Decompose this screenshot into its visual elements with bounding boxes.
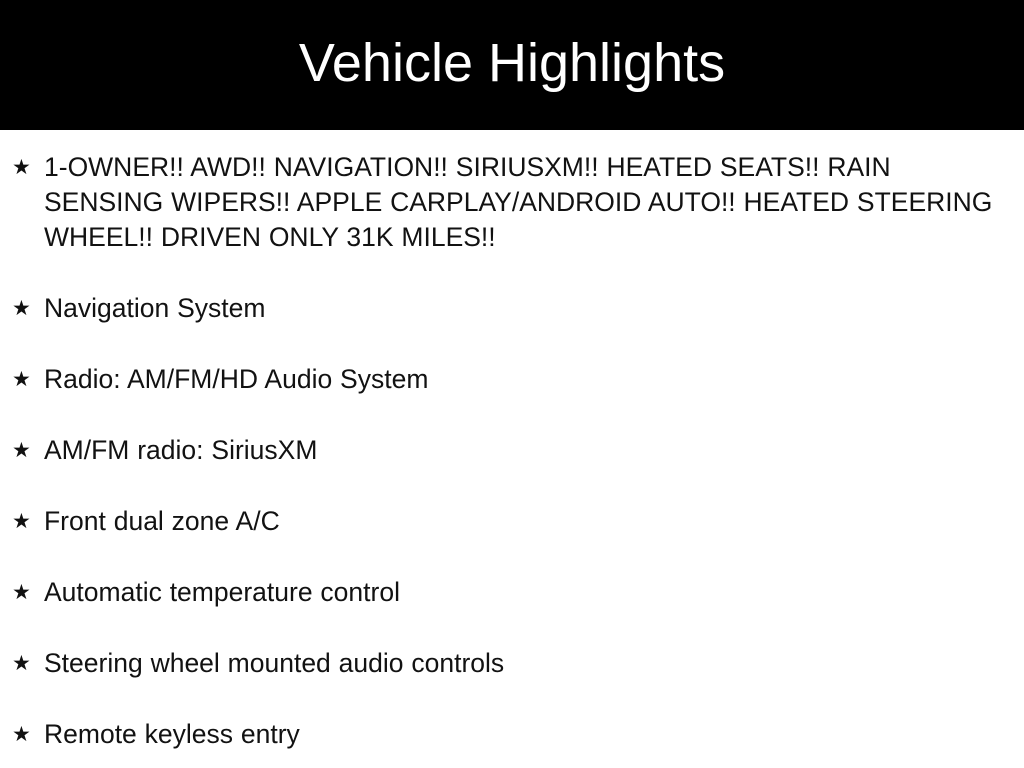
- feature-text: Remote keyless entry: [44, 717, 1006, 752]
- star-bullet-icon: ★: [12, 291, 44, 326]
- star-bullet-icon: ★: [12, 150, 44, 185]
- feature-text: Radio: AM/FM/HD Audio System: [44, 362, 1006, 397]
- vehicle-features-list: ★ 1-OWNER!! AWD!! NAVIGATION!! SIRIUSXM!…: [0, 130, 1024, 768]
- list-item: ★ Automatic temperature control: [0, 575, 1024, 610]
- feature-text: Steering wheel mounted audio controls: [44, 646, 1006, 681]
- star-bullet-icon: ★: [12, 362, 44, 397]
- star-bullet-icon: ★: [12, 717, 44, 752]
- list-item: ★ Front dual zone A/C: [0, 504, 1024, 539]
- page-title: Vehicle Highlights: [299, 36, 725, 94]
- star-bullet-icon: ★: [12, 575, 44, 610]
- feature-text: 1-OWNER!! AWD!! NAVIGATION!! SIRIUSXM!! …: [44, 150, 1006, 255]
- list-item: ★ Radio: AM/FM/HD Audio System: [0, 362, 1024, 397]
- star-bullet-icon: ★: [12, 646, 44, 681]
- star-bullet-icon: ★: [12, 504, 44, 539]
- list-item: ★ Navigation System: [0, 291, 1024, 326]
- feature-text: AM/FM radio: SiriusXM: [44, 433, 1006, 468]
- list-item: ★ Remote keyless entry: [0, 717, 1024, 752]
- list-item: ★ 1-OWNER!! AWD!! NAVIGATION!! SIRIUSXM!…: [0, 150, 1024, 255]
- star-bullet-icon: ★: [12, 433, 44, 468]
- list-item: ★ AM/FM radio: SiriusXM: [0, 433, 1024, 468]
- feature-text: Front dual zone A/C: [44, 504, 1006, 539]
- feature-text: Automatic temperature control: [44, 575, 1006, 610]
- page-header-banner: Vehicle Highlights: [0, 0, 1024, 130]
- list-item: ★ Steering wheel mounted audio controls: [0, 646, 1024, 681]
- vehicle-highlights-page: Vehicle Highlights ★ 1-OWNER!! AWD!! NAV…: [0, 0, 1024, 768]
- feature-text: Navigation System: [44, 291, 1006, 326]
